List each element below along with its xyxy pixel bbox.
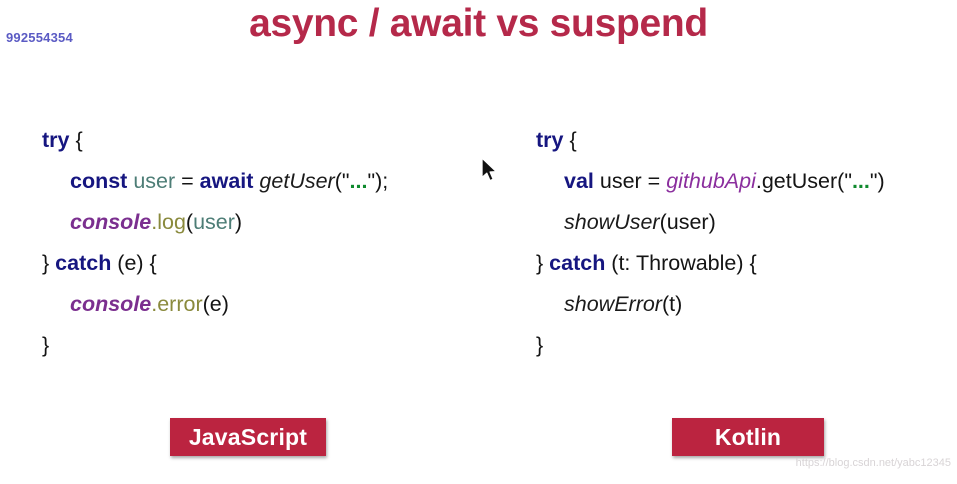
url-watermark: https://blog.csdn.net/yabc12345	[796, 457, 951, 469]
code-line: }	[42, 325, 502, 366]
keyword-catch: catch	[55, 251, 111, 275]
function-showerror: showError	[564, 292, 662, 316]
function-getuser: getUser	[253, 169, 334, 193]
code-line: console.error(e)	[42, 284, 502, 325]
keyword-catch: catch	[549, 251, 605, 275]
keyword-val: val	[564, 169, 594, 193]
identifier-user: user	[193, 210, 235, 234]
quote-open: "	[342, 169, 350, 193]
operator-equals: =	[175, 169, 200, 193]
brace-close: }	[536, 333, 543, 357]
slide-canvas: 992554354 async / await vs suspend try {…	[0, 0, 957, 484]
string-literal: ...	[350, 169, 368, 193]
keyword-const: const	[70, 169, 127, 193]
brace-close: }	[42, 251, 55, 275]
keyword-try: try	[42, 128, 69, 152]
identifier-user: user	[667, 210, 709, 234]
method-getuser: .getUser	[756, 169, 837, 193]
string-literal: ...	[852, 169, 870, 193]
badge-kotlin: Kotlin	[672, 418, 824, 456]
keyword-try: try	[536, 128, 563, 152]
code-line: showError(t)	[536, 284, 956, 325]
quote-open: "	[844, 169, 852, 193]
keyword-await: await	[200, 169, 254, 193]
identifier-user: user	[127, 169, 175, 193]
kotlin-code-block: try { val user = githubApi.getUser("..."…	[536, 120, 956, 366]
code-line: val user = githubApi.getUser("...")	[536, 161, 956, 202]
method-log: .log	[151, 210, 186, 234]
paren-close: );	[375, 169, 388, 193]
paren-open: (	[335, 169, 342, 193]
quote-close: "	[870, 169, 878, 193]
identifier-e: e	[210, 292, 222, 316]
badge-javascript: JavaScript	[170, 418, 326, 456]
paren-open: (	[660, 210, 667, 234]
method-error: .error	[151, 292, 202, 316]
code-line: console.log(user)	[42, 202, 502, 243]
page-title: async / await vs suspend	[0, 2, 957, 46]
brace: {	[69, 128, 82, 152]
quote-close: "	[367, 169, 375, 193]
brace-close: }	[536, 251, 549, 275]
code-line: try {	[536, 120, 956, 161]
paren-close: )	[235, 210, 242, 234]
paren-close: )	[709, 210, 716, 234]
operator-equals: =	[642, 169, 667, 193]
code-line: } catch (t: Throwable) {	[536, 243, 956, 284]
object-githubapi: githubApi	[666, 169, 756, 193]
identifier-user: user	[594, 169, 642, 193]
code-line: } catch (e) {	[42, 243, 502, 284]
catch-args: (e) {	[111, 251, 156, 275]
object-console: console	[70, 210, 151, 234]
paren-close: )	[675, 292, 682, 316]
paren-open: (	[203, 292, 210, 316]
brace: {	[563, 128, 576, 152]
code-line: try {	[42, 120, 502, 161]
paren-close: )	[222, 292, 229, 316]
brace-close: }	[42, 333, 49, 357]
paren-close: )	[878, 169, 885, 193]
code-line: showUser(user)	[536, 202, 956, 243]
javascript-code-block: try { const user = await getUser("...");…	[42, 120, 502, 366]
code-line: }	[536, 325, 956, 366]
catch-args: (t: Throwable) {	[605, 251, 756, 275]
object-console: console	[70, 292, 151, 316]
function-showuser: showUser	[564, 210, 660, 234]
code-line: const user = await getUser("...");	[42, 161, 502, 202]
